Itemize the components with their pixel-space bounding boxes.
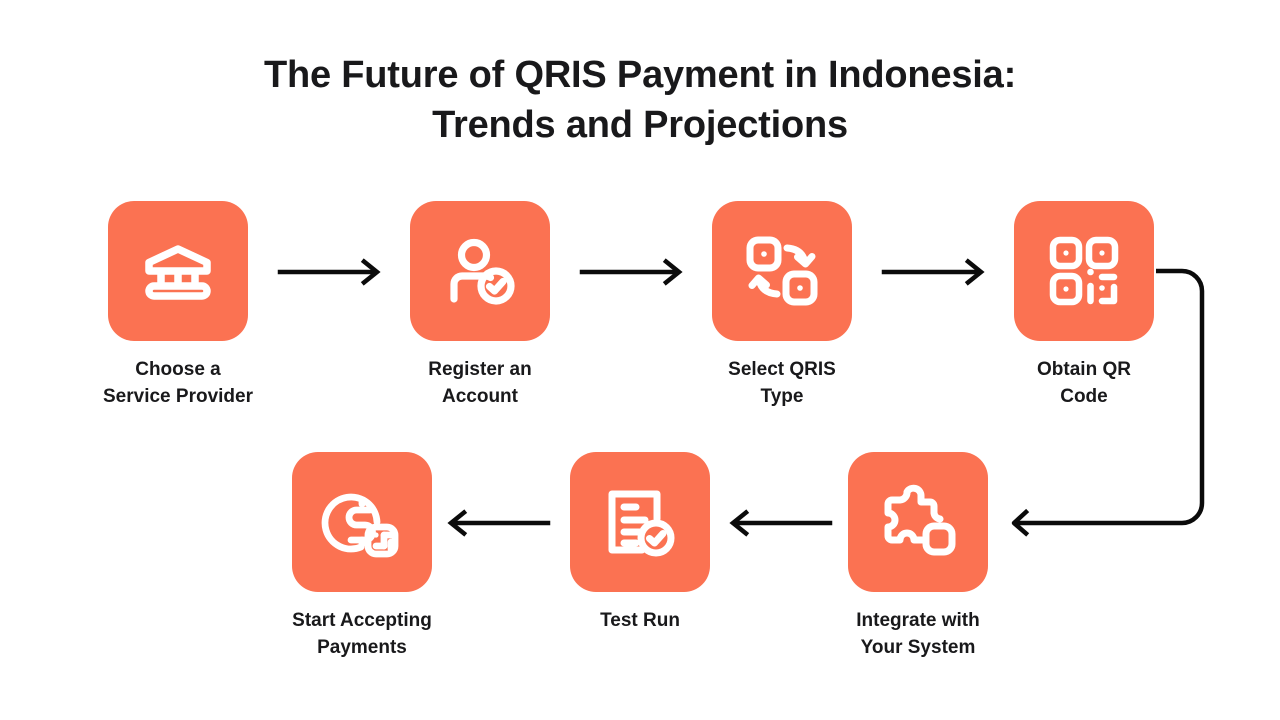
step-icon-tile xyxy=(108,201,248,341)
step-icon-tile xyxy=(1014,201,1154,341)
step-label: Choose a Service Provider xyxy=(103,357,253,411)
step-obtain-qr-code[interactable]: Obtain QR Code xyxy=(974,201,1194,411)
step-icon-tile xyxy=(410,201,550,341)
step-icon-tile xyxy=(292,452,432,592)
qr-code-icon xyxy=(1042,229,1126,313)
step-select-qris-type[interactable]: Select QRIS Type xyxy=(672,201,892,411)
step-label: Select QRIS Type xyxy=(728,357,836,411)
step-icon-tile xyxy=(848,452,988,592)
step-integrate-with-your-system[interactable]: Integrate with Your System xyxy=(808,452,1028,662)
arrow-register-to-select xyxy=(580,256,684,288)
step-label: Obtain QR Code xyxy=(1037,357,1131,411)
user-check-icon xyxy=(438,229,522,313)
diagram-canvas: The Future of QRIS Payment in Indonesia:… xyxy=(0,0,1280,720)
step-label: Integrate with Your System xyxy=(856,608,980,662)
step-icon-tile xyxy=(570,452,710,592)
puzzle-piece-icon xyxy=(876,480,960,564)
step-label: Register an Account xyxy=(428,357,531,411)
arrow-select-to-obtain xyxy=(882,256,986,288)
step-test-run[interactable]: Test Run xyxy=(530,452,750,635)
step-register-an-account[interactable]: Register an Account xyxy=(370,201,590,411)
document-check-icon xyxy=(598,480,682,564)
step-label: Test Run xyxy=(600,608,680,635)
dollar-qr-icon xyxy=(320,480,404,564)
step-label: Start Accepting Payments xyxy=(292,608,432,662)
page-title: The Future of QRIS Payment in Indonesia:… xyxy=(0,50,1280,150)
step-start-accepting-payments[interactable]: Start Accepting Payments xyxy=(252,452,472,662)
swap-squares-icon xyxy=(740,229,824,313)
bank-icon xyxy=(136,229,220,313)
step-choose-service-provider[interactable]: Choose a Service Provider xyxy=(68,201,288,411)
step-icon-tile xyxy=(712,201,852,341)
arrow-choose-to-register xyxy=(278,256,382,288)
